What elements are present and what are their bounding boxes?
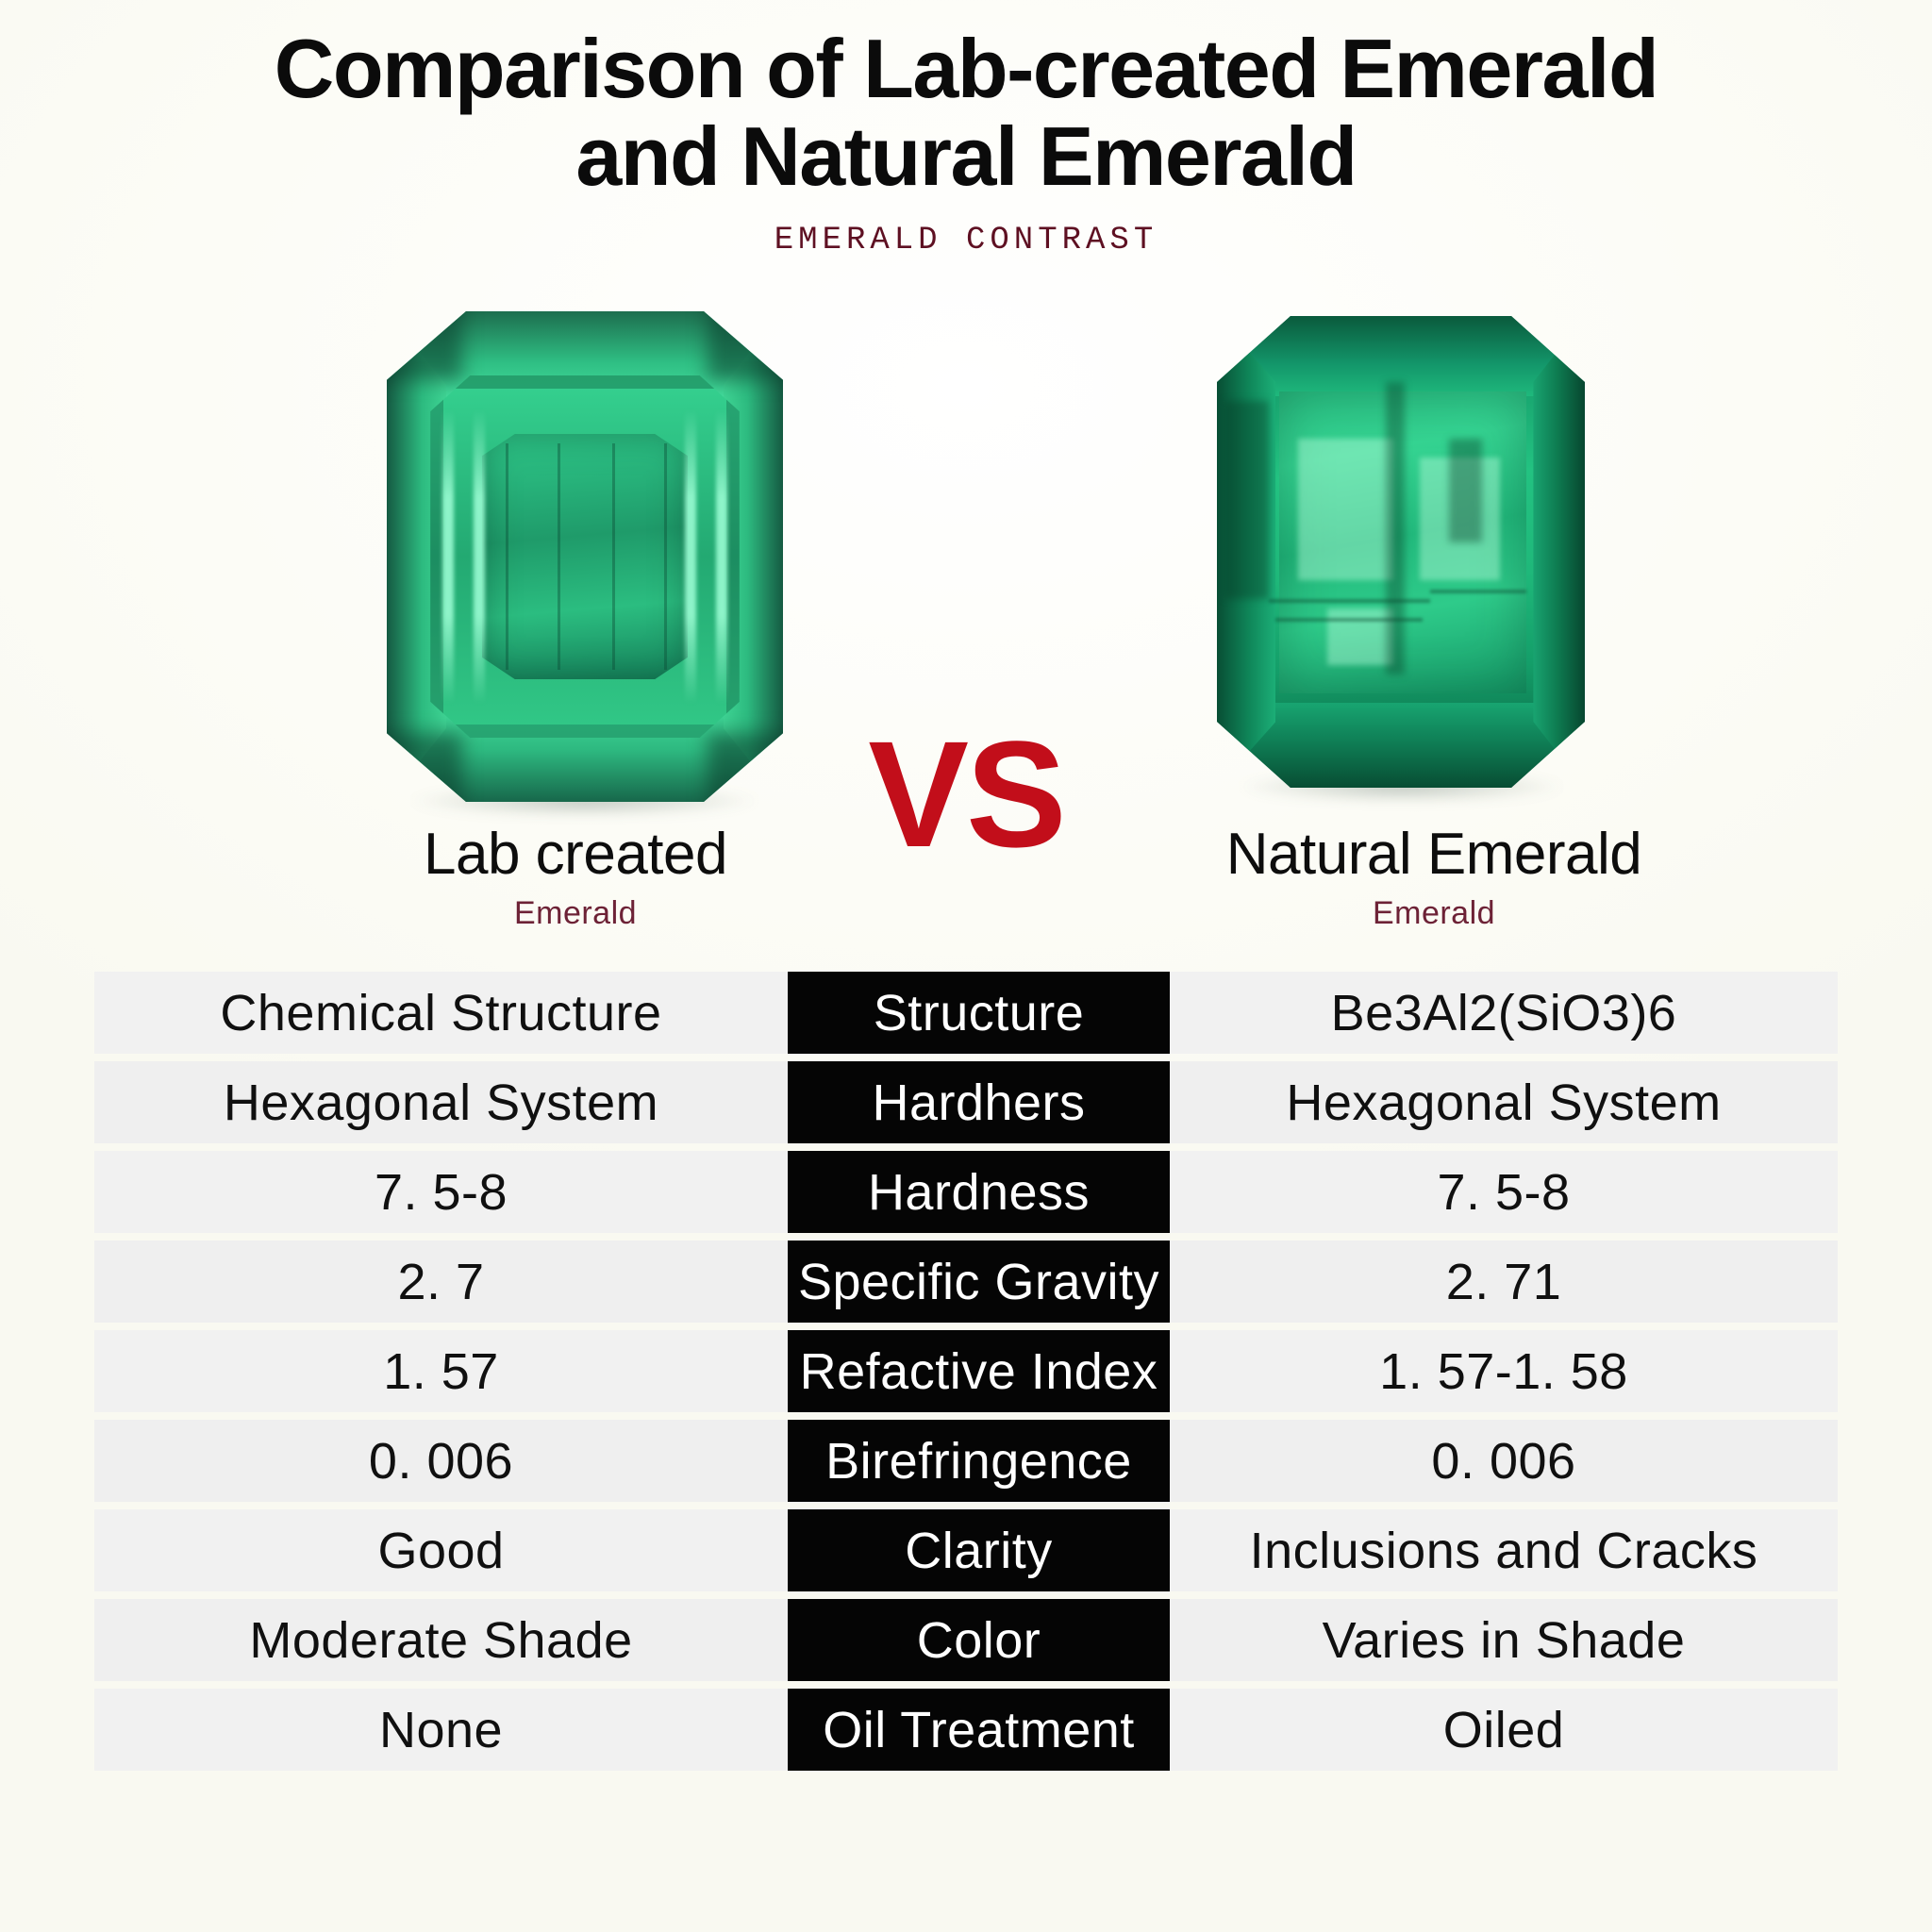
table-cell-natural-value: 7. 5-8 <box>1170 1151 1838 1233</box>
gem-captions: Lab created Emerald Natural Emerald Emer… <box>0 825 1932 939</box>
table-cell-natural-value: 1. 57-1. 58 <box>1170 1330 1838 1412</box>
table-row: Chemical StructureStructureBe3Al2(SiO3)6 <box>94 972 1838 1054</box>
page-title-line-1: Comparison of Lab-created Emerald <box>0 25 1932 112</box>
page-title: Comparison of Lab-created Emerald and Na… <box>0 25 1932 201</box>
table-cell-lab-value: Good <box>94 1509 788 1591</box>
table-row: GoodClarityInclusions and Cracks <box>94 1509 1838 1591</box>
infographic-root: Comparison of Lab-created Emerald and Na… <box>0 0 1932 1932</box>
table-cell-property: Specific Gravity <box>788 1241 1170 1323</box>
table-cell-natural-value: Hexagonal System <box>1170 1061 1838 1143</box>
table-cell-lab-value: 1. 57 <box>94 1330 788 1412</box>
table-cell-property: Refactive Index <box>788 1330 1170 1412</box>
table-cell-natural-value: Oiled <box>1170 1689 1838 1771</box>
caption-natural-title: Natural Emerald <box>1066 825 1802 884</box>
caption-lab-created-sub: Emerald <box>264 895 887 932</box>
page-subtitle: EMERALD CONTRAST <box>0 223 1932 258</box>
comparison-table: Chemical StructureStructureBe3Al2(SiO3)6… <box>94 972 1838 1778</box>
table-cell-property: Hardness <box>788 1151 1170 1233</box>
table-cell-property: Color <box>788 1599 1170 1681</box>
table-cell-lab-value: Hexagonal System <box>94 1061 788 1143</box>
table-cell-natural-value: Varies in Shade <box>1170 1599 1838 1681</box>
table-cell-lab-value: Chemical Structure <box>94 972 788 1054</box>
table-cell-property: Structure <box>788 972 1170 1054</box>
table-cell-natural-value: Inclusions and Cracks <box>1170 1509 1838 1591</box>
table-cell-lab-value: 0. 006 <box>94 1420 788 1502</box>
table-row: NoneOil TreatmentOiled <box>94 1689 1838 1771</box>
caption-lab-created-title: Lab created <box>264 825 887 884</box>
table-cell-natural-value: Be3Al2(SiO3)6 <box>1170 972 1838 1054</box>
caption-natural-sub: Emerald <box>1066 895 1802 932</box>
table-row: 0. 006Birefringence0. 006 <box>94 1420 1838 1502</box>
table-row: Moderate ShadeColorVaries in Shade <box>94 1599 1838 1681</box>
table-cell-property: Birefringence <box>788 1420 1170 1502</box>
table-cell-lab-value: 2. 7 <box>94 1241 788 1323</box>
table-cell-property: Hardhers <box>788 1061 1170 1143</box>
table-cell-lab-value: Moderate Shade <box>94 1599 788 1681</box>
table-cell-natural-value: 2. 71 <box>1170 1241 1838 1323</box>
caption-natural: Natural Emerald Emerald <box>1066 825 1802 932</box>
page-title-line-2: and Natural Emerald <box>0 112 1932 200</box>
table-cell-lab-value: 7. 5-8 <box>94 1151 788 1233</box>
table-row: 1. 57Refactive Index1. 57-1. 58 <box>94 1330 1838 1412</box>
table-cell-property: Oil Treatment <box>788 1689 1170 1771</box>
table-row: 2. 7Specific Gravity2. 71 <box>94 1241 1838 1323</box>
caption-lab-created: Lab created Emerald <box>264 825 887 932</box>
table-cell-property: Clarity <box>788 1509 1170 1591</box>
table-cell-lab-value: None <box>94 1689 788 1771</box>
table-row: 7. 5-8Hardness7. 5-8 <box>94 1151 1838 1233</box>
table-row: Hexagonal SystemHardhersHexagonal System <box>94 1061 1838 1143</box>
table-cell-natural-value: 0. 006 <box>1170 1420 1838 1502</box>
